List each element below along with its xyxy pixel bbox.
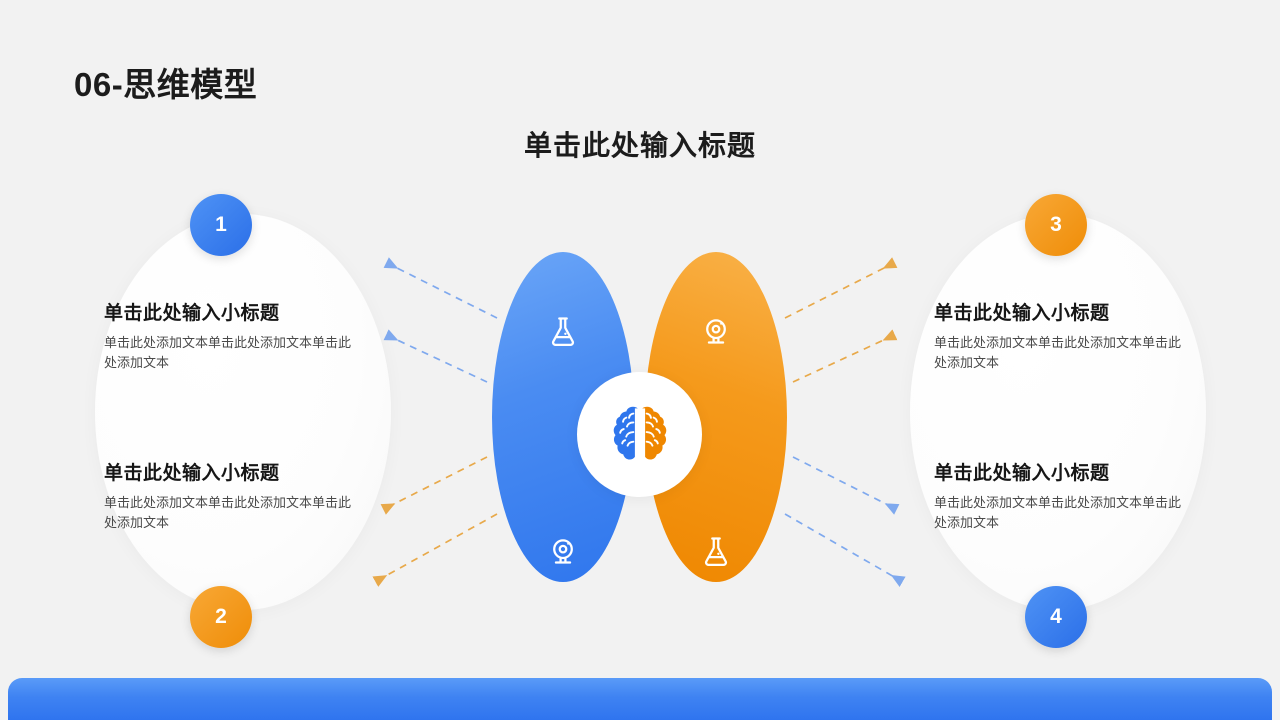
connector-group-left-orange [382, 457, 497, 578]
brain-medallion[interactable] [577, 372, 702, 497]
main-heading: 单击此处输入标题 [0, 124, 1280, 164]
connector-group-left-blue [393, 266, 497, 382]
text-block-1[interactable]: 单击此处输入小标题 单击此处添加文本单击此处添加文本单击此处添加文本 [104, 298, 354, 373]
text-block-1-heading: 单击此处输入小标题 [104, 298, 354, 325]
text-block-4[interactable]: 单击此处输入小标题 单击此处添加文本单击此处添加文本单击此处添加文本 [934, 458, 1184, 533]
text-block-1-body: 单击此处添加文本单击此处添加文本单击此处添加文本 [104, 333, 354, 373]
connector-group-right-blue [785, 457, 896, 578]
badge-4[interactable]: 4 [1025, 586, 1087, 648]
text-block-2-heading: 单击此处输入小标题 [104, 458, 354, 485]
microscope-icon [696, 312, 736, 352]
badge-2-number: 2 [215, 605, 227, 629]
page-title: 06-思维模型 [74, 58, 257, 106]
flask-icon [696, 532, 736, 572]
text-block-3-heading: 单击此处输入小标题 [934, 298, 1184, 325]
text-block-2[interactable]: 单击此处输入小标题 单击此处添加文本单击此处添加文本单击此处添加文本 [104, 458, 354, 533]
connector-5 [785, 266, 888, 318]
badge-3[interactable]: 3 [1025, 194, 1087, 256]
connector-4 [382, 514, 497, 578]
connector-3 [390, 457, 487, 506]
badge-1[interactable]: 1 [190, 194, 252, 256]
flask-icon [543, 312, 583, 352]
connector-6 [793, 338, 888, 382]
badge-3-number: 3 [1050, 213, 1062, 237]
oval-panel-right [910, 214, 1206, 610]
text-block-4-body: 单击此处添加文本单击此处添加文本单击此处添加文本 [934, 493, 1184, 533]
text-block-2-body: 单击此处添加文本单击此处添加文本单击此处添加文本 [104, 493, 354, 533]
text-block-3-body: 单击此处添加文本单击此处添加文本单击此处添加文本 [934, 333, 1184, 373]
badge-1-number: 1 [215, 213, 227, 237]
oval-panel-left [95, 214, 391, 610]
connector-1 [393, 266, 497, 318]
connector-group-right-orange [785, 266, 888, 382]
microscope-icon [543, 532, 583, 572]
text-block-3[interactable]: 单击此处输入小标题 单击此处添加文本单击此处添加文本单击此处添加文本 [934, 298, 1184, 373]
badge-2[interactable]: 2 [190, 586, 252, 648]
connector-7 [793, 457, 890, 506]
text-block-4-heading: 单击此处输入小标题 [934, 458, 1184, 485]
footer-bar [8, 678, 1272, 720]
brain-icon [603, 398, 677, 472]
connector-2 [393, 338, 487, 382]
connector-8 [785, 514, 896, 578]
badge-4-number: 4 [1050, 605, 1062, 629]
